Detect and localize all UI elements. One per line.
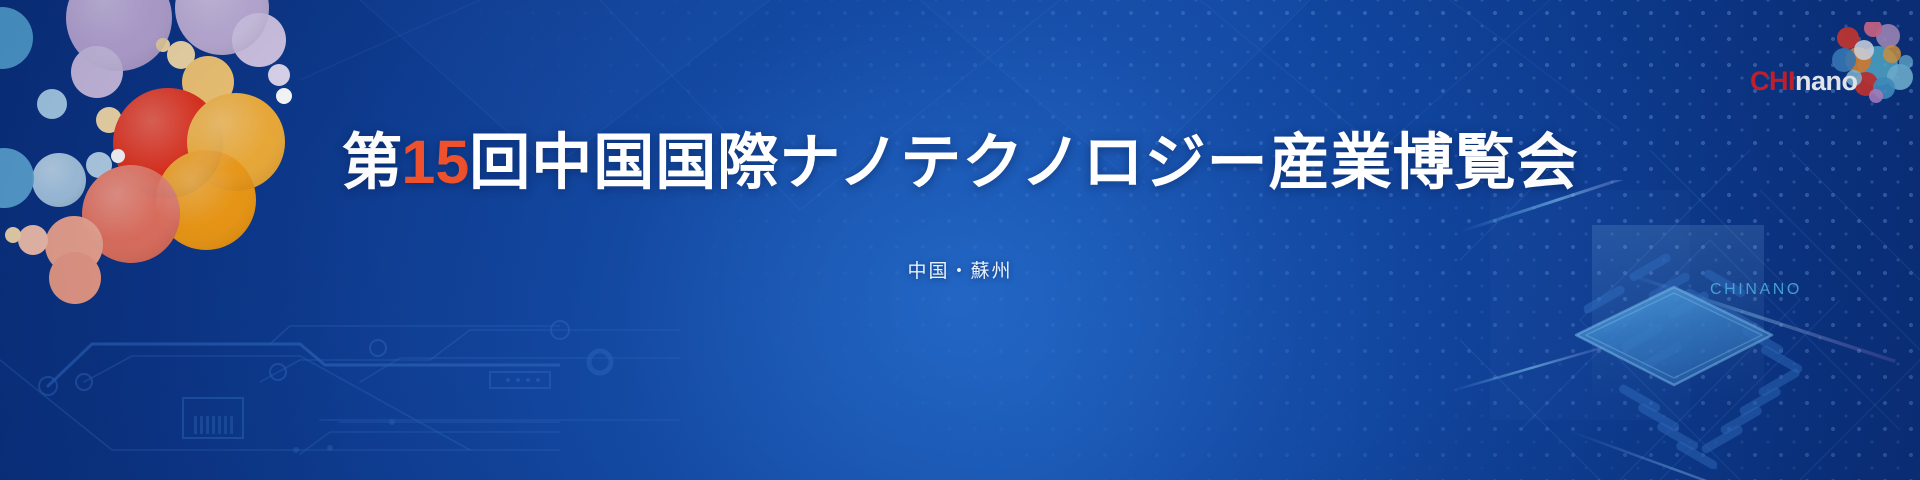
chinano-logo[interactable]: CHInano xyxy=(1750,68,1858,95)
title-prefix: 第 xyxy=(341,128,401,196)
chip-label: CHINANO xyxy=(1666,281,1846,299)
logo-text-nano: nano xyxy=(1795,66,1858,96)
chip-diamond-graphic xyxy=(1570,215,1920,480)
title-rest: 回中国国際ナノテクノロジー産業博覧会 xyxy=(469,128,1578,196)
logo-text-chi: CHI xyxy=(1750,66,1795,96)
title-edition-number: 15 xyxy=(401,128,469,196)
chinano-event-banner: CHINANO CHInano 第15回中国国際ナノテクノロジー産業博覧会 中国… xyxy=(0,0,1920,480)
circuit-board-pattern-right xyxy=(260,320,680,460)
page-title: 第15回中国国際ナノテクノロジー産業博覧会 xyxy=(0,127,1920,197)
event-location-subtitle: 中国・蘇州 xyxy=(0,256,1920,283)
